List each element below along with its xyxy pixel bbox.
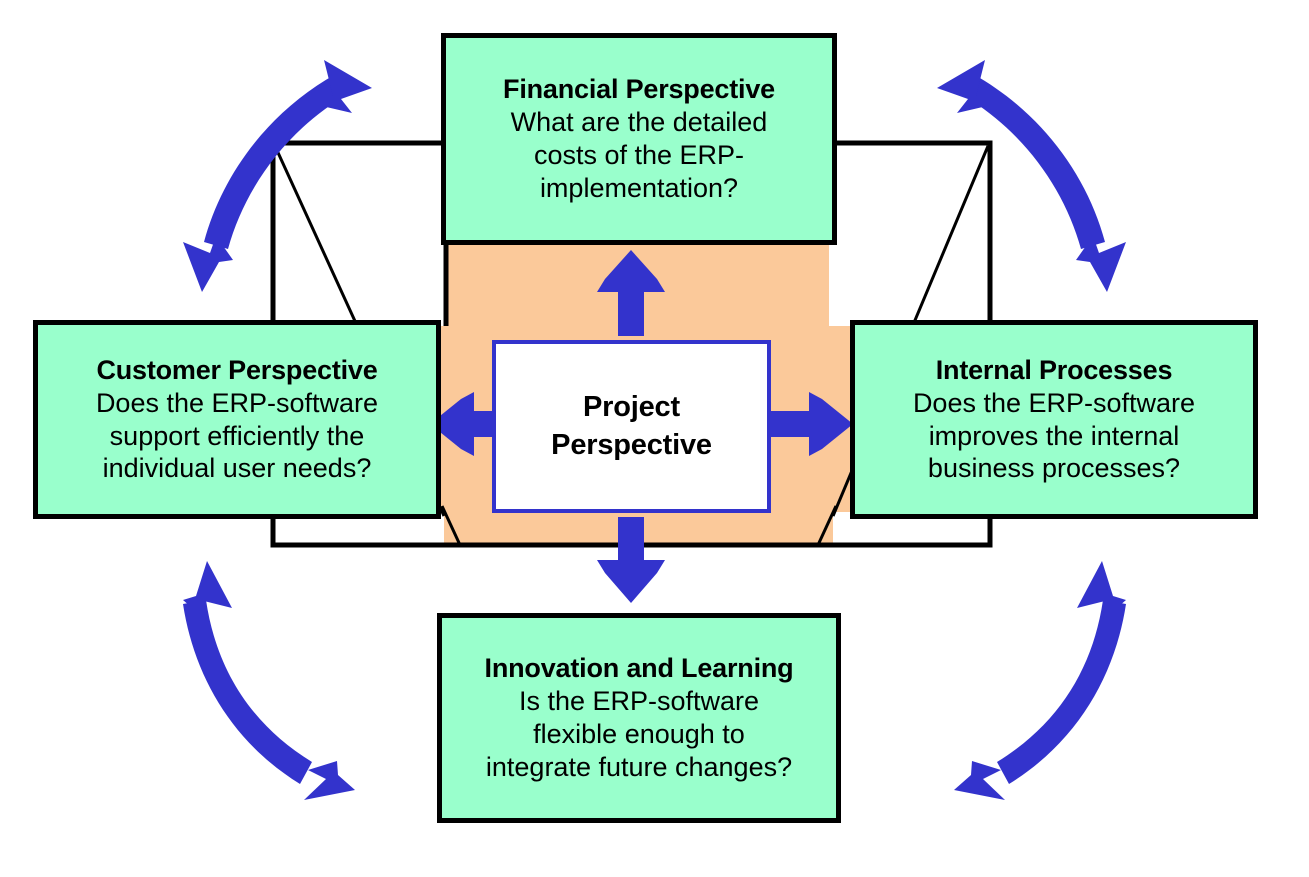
internal-line-1: Does the ERP-software bbox=[907, 387, 1201, 420]
customer-line-3: individual user needs? bbox=[97, 452, 378, 485]
innovation-line-1: Is the ERP-software bbox=[513, 685, 765, 718]
innovation-title: Innovation and Learning bbox=[485, 652, 794, 685]
curved-arrow-bottom-right-head-b bbox=[954, 761, 1005, 800]
financial-title: Financial Perspective bbox=[503, 73, 775, 106]
customer-line-2: support efficiently the bbox=[104, 420, 371, 453]
center-title-line-1: Project bbox=[583, 389, 680, 427]
customer-title: Customer Perspective bbox=[96, 354, 377, 387]
financial-line-1: What are the detailed bbox=[505, 106, 774, 139]
internal-line-2: improves the internal bbox=[923, 420, 1186, 453]
backdrop-notch-top-left bbox=[268, 138, 448, 326]
curved-arrow-bottom-left-band bbox=[183, 600, 312, 784]
innovation-line-3: integrate future changes? bbox=[480, 751, 798, 784]
diagram-canvas: Financial Perspective What are the detai… bbox=[0, 0, 1309, 877]
internal-line-3: business processes? bbox=[922, 452, 1186, 485]
perspective-box-financial[interactable]: Financial Perspective What are the detai… bbox=[441, 33, 837, 245]
center-title-line-2: Perspective bbox=[551, 427, 712, 465]
perspective-box-innovation[interactable]: Innovation and Learning Is the ERP-softw… bbox=[437, 613, 841, 823]
backdrop-notch-top-right bbox=[829, 138, 995, 326]
financial-line-2: costs of the ERP- bbox=[528, 139, 750, 172]
customer-line-1: Does the ERP-software bbox=[90, 387, 384, 420]
perspective-box-internal[interactable]: Internal Processes Does the ERP-software… bbox=[850, 320, 1258, 519]
perspective-box-customer[interactable]: Customer Perspective Does the ERP-softwa… bbox=[33, 320, 441, 519]
curved-arrow-bottom-left-head-b bbox=[304, 761, 355, 800]
innovation-line-2: flexible enough to bbox=[527, 718, 751, 751]
curved-arrow-bottom-right-band bbox=[997, 600, 1126, 784]
curved-arrow-bottom-right[interactable] bbox=[954, 561, 1126, 800]
financial-line-3: implementation? bbox=[534, 172, 744, 205]
curved-arrow-bottom-left[interactable] bbox=[183, 561, 355, 800]
internal-title: Internal Processes bbox=[936, 354, 1173, 387]
center-box-project-perspective[interactable]: Project Perspective bbox=[492, 340, 771, 513]
